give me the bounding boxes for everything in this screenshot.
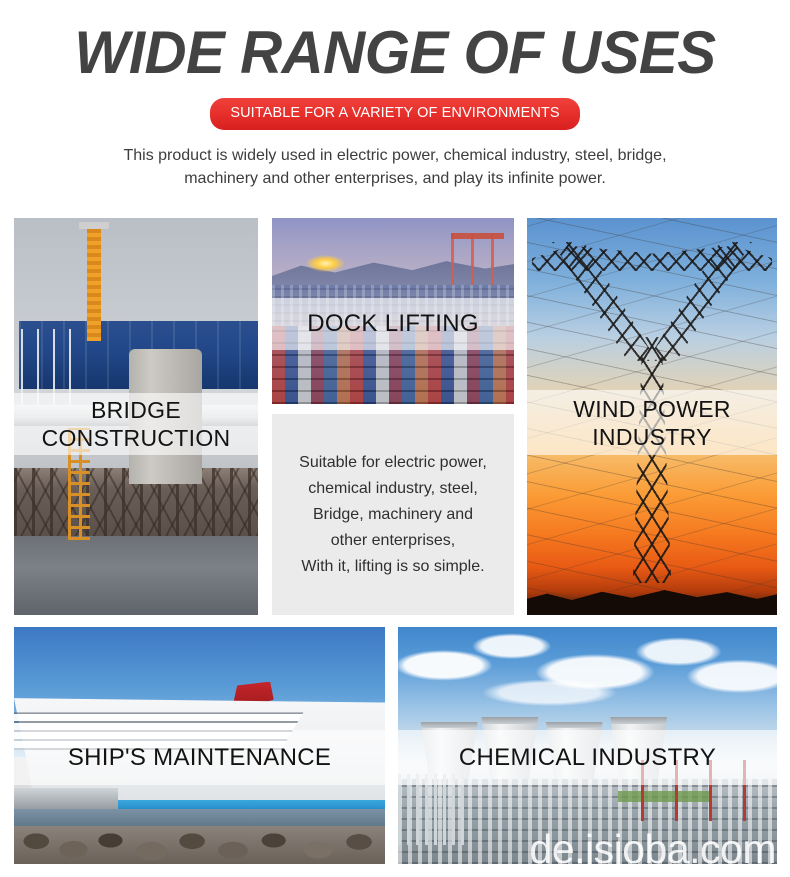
subtitle-badge: SUITABLE FOR A VARIETY OF ENVIRONMENTS [210,98,579,130]
site-watermark: _de.jsjoba.com [507,827,776,871]
panel-dock-lifting[interactable]: DOCK LIFTING [272,218,514,404]
page-header: WIDE RANGE OF USES SUITABLE FOR A VARIET… [0,0,790,190]
panel-description-box: Suitable for electric power, chemical in… [272,414,514,615]
panel-label-ship-maintenance: SHIP'S MAINTENANCE [14,730,385,785]
intro-paragraph: This product is widely used in electric … [0,144,790,190]
description-box-inner: Suitable for electric power, chemical in… [272,414,514,615]
promo-page: WIDE RANGE OF USES SUITABLE FOR A VARIET… [0,0,790,877]
gallery-grid-top: BRIDGE CONSTRUCTION DOCK LIFTING Suitabl… [14,218,777,615]
panel-label-dock-lifting: DOCK LIFTING [272,298,514,350]
panel-label-wind-power-industry: WIND POWER INDUSTRY [527,390,777,455]
badge-row: SUITABLE FOR A VARIETY OF ENVIRONMENTS [0,98,790,130]
panel-label-chemical-industry: CHEMICAL INDUSTRY [398,730,777,785]
panel-label-bridge-construction: BRIDGE CONSTRUCTION [14,393,258,455]
panel-wind-power-industry[interactable]: WIND POWER INDUSTRY [527,218,777,615]
panel-ship-maintenance[interactable]: SHIP'S MAINTENANCE [14,627,385,864]
description-text: Suitable for electric power, chemical in… [299,450,487,580]
panel-bridge-construction[interactable]: BRIDGE CONSTRUCTION [14,218,258,615]
page-title: WIDE RANGE OF USES [12,22,778,84]
